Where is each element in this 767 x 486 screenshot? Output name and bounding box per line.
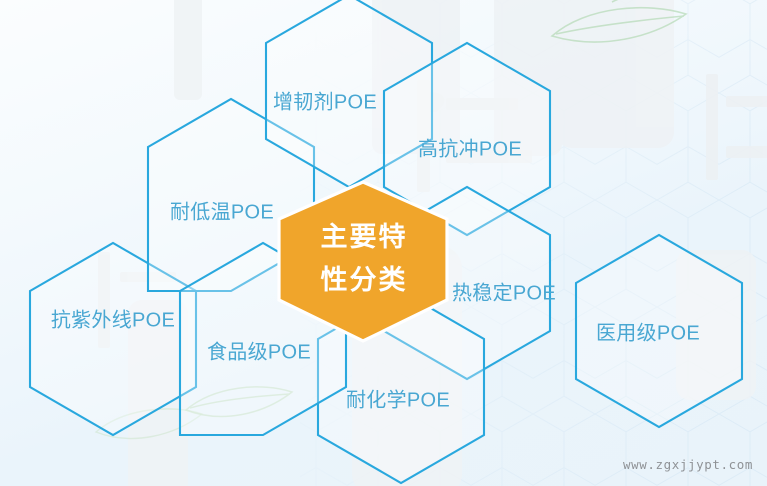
hex-node-yiyongji[interactable]: 医用级POE — [576, 235, 742, 427]
hex-node-label: 医用级POE — [596, 321, 700, 344]
center-label-line2: 性分类 — [321, 265, 408, 295]
hexagon-cluster-diagram: 抗紫外线POE 耐低温POE 增韧剂POE 高抗冲POE 热稳定POE 医用级P… — [0, 0, 767, 486]
hex-node-label: 耐低温POE — [170, 200, 274, 223]
center-label-line1: 主要特 — [321, 222, 408, 252]
hex-node-label: 增韧剂POE — [273, 90, 377, 113]
hex-node-label: 高抗冲POE — [418, 137, 522, 160]
hex-node-label: 耐化学POE — [346, 388, 450, 411]
hex-node-label: 热稳定POE — [452, 281, 556, 304]
hex-node-label: 食品级POE — [207, 340, 311, 363]
poster-canvas: 抗紫外线POE 耐低温POE 增韧剂POE 高抗冲POE 热稳定POE 医用级P… — [0, 0, 767, 486]
site-url-watermark: www.zgxjjypt.com — [623, 457, 753, 472]
hex-node-label: 抗紫外线POE — [51, 308, 175, 331]
